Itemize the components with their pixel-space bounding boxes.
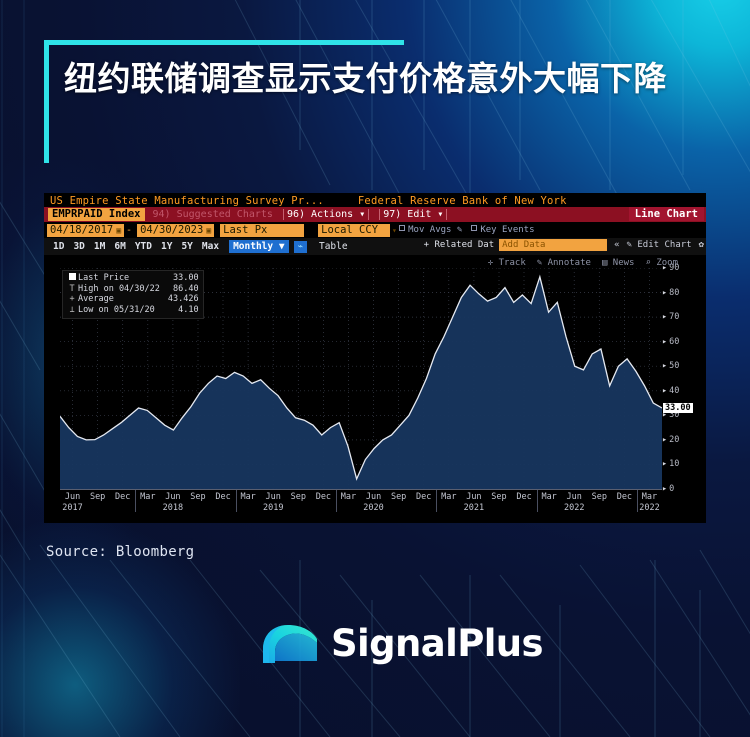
- brand-logo: SignalPlus: [261, 619, 543, 667]
- period-1d[interactable]: 1D: [53, 241, 64, 252]
- legend-value: 33.00: [160, 273, 199, 284]
- x-axis-year-label: 2017: [62, 503, 82, 513]
- period-3d[interactable]: 3D: [73, 241, 84, 252]
- actions-menu[interactable]: 96) Actions ▾: [283, 209, 369, 220]
- y-axis-tick: ▸50: [662, 361, 679, 371]
- color-swatch-icon: [69, 273, 76, 280]
- legend-table: Last Price 33.00 T High on 04/30/22 86.4…: [66, 273, 199, 315]
- x-axis-separator: [436, 490, 437, 512]
- y-axis-tick: ▸80: [662, 288, 679, 298]
- period-1y[interactable]: 1Y: [161, 241, 172, 252]
- terminal-command-bar: EMPRPAID Index 94) Suggested Charts 96) …: [44, 207, 706, 222]
- x-axis-tick: Mar: [341, 492, 356, 502]
- period-5y[interactable]: 5Y: [181, 241, 192, 252]
- suggested-charts-menu[interactable]: 94) Suggested Charts: [153, 209, 273, 220]
- brand-name: SignalPlus: [331, 622, 543, 665]
- legend-marker-low: ⊥: [66, 305, 78, 316]
- legend-row: ⊥ Low on 05/31/20 4.10: [66, 305, 199, 316]
- y-axis-tick: ▸60: [662, 337, 679, 347]
- x-axis-tick: Jun: [466, 492, 481, 502]
- legend-label: Average: [78, 294, 160, 305]
- x-axis-tick: Mar: [240, 492, 255, 502]
- x-axis-tick: Dec: [617, 492, 632, 502]
- y-axis-tick: ▸40: [662, 386, 679, 396]
- chart-type-label: Line Chart: [629, 207, 704, 221]
- x-axis-year-label: 2018: [163, 503, 183, 513]
- chart-y-axis: ▸0▸10▸20▸30▸40▸50▸60▸70▸80▸9033.00: [662, 268, 706, 489]
- date-from-input[interactable]: 04/18/2017▣: [47, 224, 124, 237]
- wave-logo-icon: [261, 619, 319, 667]
- key-events-checkbox[interactable]: Key Events: [471, 225, 534, 235]
- news-tool[interactable]: ▤ News: [602, 258, 635, 268]
- chart-legend: Last Price 33.00 T High on 04/30/22 86.4…: [62, 270, 204, 319]
- legend-label: Low on 05/31/20: [78, 305, 160, 316]
- legend-marker-high: T: [66, 284, 78, 295]
- add-data-input[interactable]: Add Data: [499, 239, 607, 251]
- gear-icon[interactable]: ✿: [699, 240, 704, 250]
- x-axis-tick: Sep: [391, 492, 406, 502]
- legend-row: + Average 43.426: [66, 294, 199, 305]
- x-axis-tick: Sep: [190, 492, 205, 502]
- period-1m[interactable]: 1M: [94, 241, 105, 252]
- date-to-caret-icon: ▣: [206, 224, 211, 237]
- x-axis-tick: Jun: [266, 492, 281, 502]
- x-axis-tick: Jun: [165, 492, 180, 502]
- x-axis-tick: Sep: [291, 492, 306, 502]
- x-axis-tick: Mar: [642, 492, 657, 502]
- ticker-field[interactable]: EMPRPAID Index: [48, 208, 145, 221]
- x-axis-tick: Mar: [140, 492, 155, 502]
- security-description: US Empire State Manufacturing Survey Pr.…: [50, 195, 324, 207]
- date-to-input[interactable]: 04/30/2023▣: [137, 224, 214, 237]
- terminal-range-bar: 04/18/2017▣ - 04/30/2023▣ Last Px Local …: [44, 222, 706, 238]
- legend-value: 43.426: [160, 294, 199, 305]
- annotate-tool[interactable]: ✎ Annotate: [537, 258, 591, 268]
- y-axis-tick: ▸10: [662, 459, 679, 469]
- x-axis-tick: Dec: [516, 492, 531, 502]
- data-source-label: Federal Reserve Bank of New York: [358, 195, 567, 207]
- date-from-caret-icon: ▣: [116, 224, 121, 237]
- period-6m[interactable]: 6M: [114, 241, 125, 252]
- x-axis-tick: Sep: [592, 492, 607, 502]
- x-axis-year-label: 2020: [363, 503, 383, 513]
- x-axis-year-label: 2019: [263, 503, 283, 513]
- edit-menu[interactable]: 97) Edit ▾: [379, 209, 447, 220]
- chart-icon[interactable]: ⌁: [294, 241, 307, 253]
- checkbox-icon: [399, 225, 405, 231]
- table-view-button[interactable]: Table: [319, 241, 348, 252]
- legend-label: Last Price: [78, 273, 160, 284]
- checkbox-icon: [471, 225, 477, 231]
- x-axis-tick: Dec: [316, 492, 331, 502]
- y-axis-tick: ▸70: [662, 312, 679, 322]
- x-axis-separator: [637, 490, 638, 512]
- x-axis-tick: Jun: [65, 492, 80, 502]
- legend-value: 4.10: [160, 305, 199, 316]
- chart-plot-area: ✛ Track ✎ Annotate ▤ News ⌕ Zoom Last Pr…: [44, 256, 706, 523]
- terminal-period-bar: 1D 3D 1M 6M YTD 1Y 5Y Max Monthly ▼ ⌁ Ta…: [44, 238, 706, 255]
- y-axis-tick: ▸0: [662, 484, 674, 494]
- x-axis-tick: Dec: [115, 492, 130, 502]
- y-axis-tick: ▸20: [662, 435, 679, 445]
- chart-x-axis: Jun2017SepDecMarJun2018SepDecMarJun2019S…: [60, 489, 662, 523]
- accent-bar-left: [44, 45, 49, 163]
- x-axis-tick: Mar: [441, 492, 456, 502]
- source-caption: Source: Bloomberg: [46, 544, 194, 560]
- x-axis-year-label: 2021: [464, 503, 484, 513]
- x-axis-tick: Dec: [215, 492, 230, 502]
- currency-select[interactable]: Local CCY▾: [318, 224, 390, 237]
- bloomberg-terminal-screenshot: US Empire State Manufacturing Survey Pr.…: [44, 193, 706, 523]
- x-axis-year-label: 2022: [639, 503, 659, 513]
- legend-row: T High on 04/30/22 86.40: [66, 284, 199, 295]
- x-axis-separator: [135, 490, 136, 512]
- headline-block: 纽约联储调查显示支付价格意外大幅下降: [44, 40, 708, 102]
- zoom-tool[interactable]: ⌕ Zoom: [645, 258, 678, 268]
- currency-caret-icon: ▾: [392, 224, 397, 237]
- period-max[interactable]: Max: [202, 241, 219, 252]
- x-axis-year-label: 2022: [564, 503, 584, 513]
- legend-label: High on 04/30/22: [78, 284, 160, 295]
- track-tool[interactable]: ✛ Track: [488, 258, 526, 268]
- x-axis-separator: [537, 490, 538, 512]
- x-axis-tick: Sep: [491, 492, 506, 502]
- period-ytd[interactable]: YTD: [135, 241, 152, 252]
- interval-select[interactable]: Monthly ▼: [229, 240, 289, 253]
- x-axis-separator: [236, 490, 237, 512]
- x-axis-tick: Jun: [567, 492, 582, 502]
- date-range-dash: -: [126, 225, 132, 236]
- x-axis-separator: [336, 490, 337, 512]
- last-price-tag: 33.00: [663, 403, 693, 413]
- edit-chart-button[interactable]: ✎ Edit Chart: [627, 240, 692, 250]
- legend-value: 86.40: [160, 284, 199, 295]
- x-axis-tick: Mar: [541, 492, 556, 502]
- legend-row: Last Price 33.00: [66, 273, 199, 284]
- terminal-security-header: US Empire State Manufacturing Survey Pr.…: [44, 193, 706, 207]
- x-axis-tick: Jun: [366, 492, 381, 502]
- related-data-button[interactable]: + Related Dat: [424, 240, 494, 250]
- legend-marker-last: [66, 273, 78, 284]
- x-axis-tick: Dec: [416, 492, 431, 502]
- mov-avgs-checkbox[interactable]: Mov Avgs ✎: [399, 225, 462, 235]
- price-field-select[interactable]: Last Px: [220, 224, 304, 237]
- legend-marker-average: +: [66, 294, 78, 305]
- chart-tool-row: ✛ Track ✎ Annotate ▤ News ⌕ Zoom: [488, 258, 678, 268]
- x-axis-tick: Sep: [90, 492, 105, 502]
- page-title: 纽约联储调查显示支付价格意外大幅下降: [64, 45, 708, 102]
- collapse-icon[interactable]: «: [614, 240, 619, 250]
